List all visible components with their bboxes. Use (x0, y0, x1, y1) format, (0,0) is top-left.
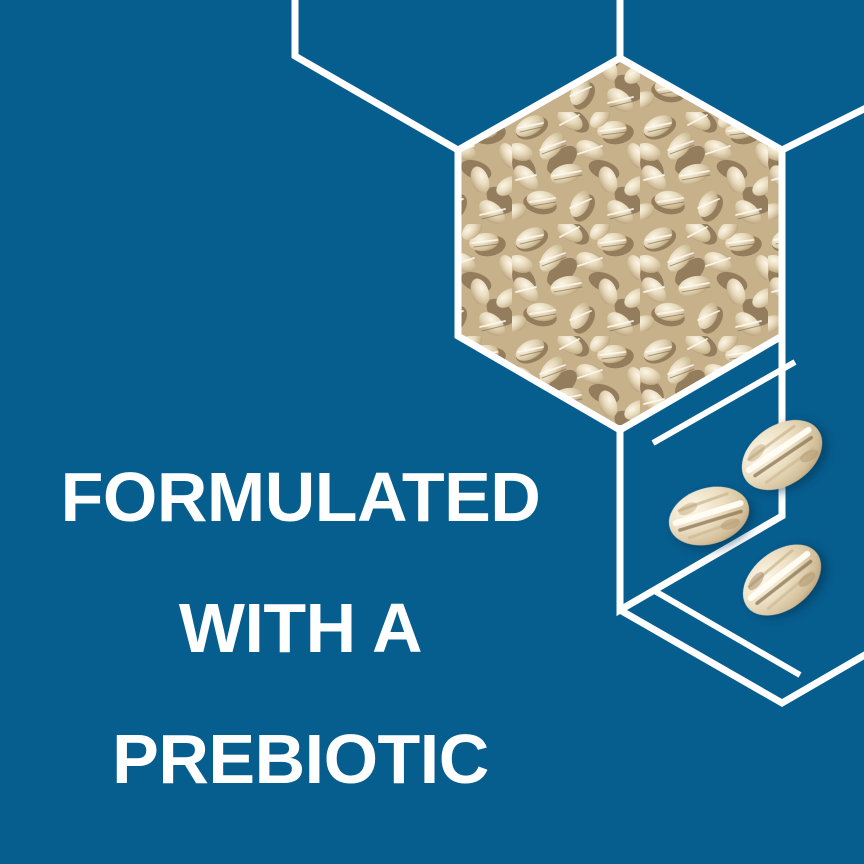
promo-panel: FORMULATED WITH A PREBIOTIC TRIPLE OAT C… (0, 0, 864, 864)
headline-line-3: PREBIOTIC (28, 727, 573, 792)
headline-line-1: FORMULATED (28, 465, 573, 530)
headline-line-4: TRIPLE OAT (28, 858, 573, 864)
headline-text: FORMULATED WITH A PREBIOTIC TRIPLE OAT C… (28, 400, 573, 864)
headline-line-2: WITH A (28, 596, 573, 661)
